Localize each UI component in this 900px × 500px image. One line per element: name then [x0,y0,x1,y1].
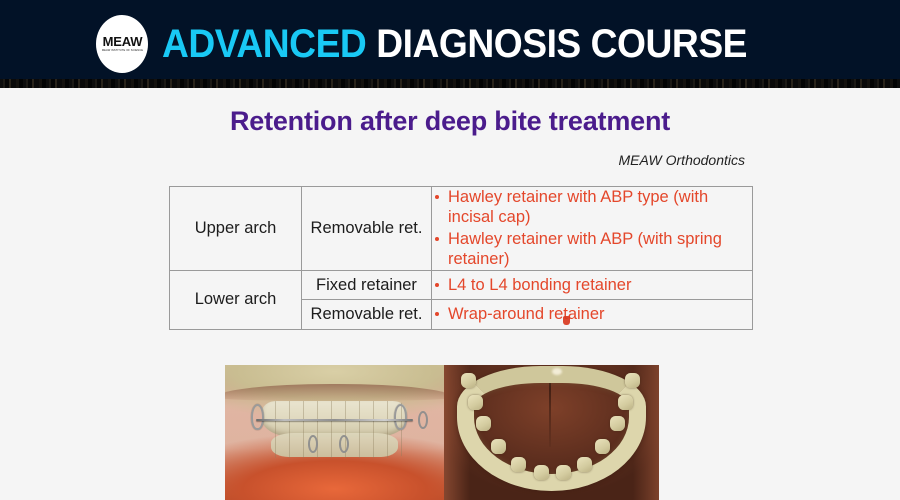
retainer-loop-right [394,404,407,430]
arch-cell-lower: Lower arch [170,270,302,329]
meaw-logo: MEAW MEAW INSTITUTE OF SCIENCE [96,15,148,73]
upper-lip-shadow [225,384,444,402]
tooth [625,373,640,388]
items-cell-lower-removable: Wrap-around retainer [432,300,753,329]
table-row: Upper arch Removable ret. Hawley retaine… [170,187,753,271]
tooth [556,465,571,480]
light-reflection [552,368,562,375]
retention-table: Upper arch Removable ret. Hawley retaine… [169,186,753,330]
logo-subtitle-text: MEAW INSTITUTE OF SCIENCE [102,50,143,53]
arch-cell-upper: Upper arch [170,187,302,271]
tooth [461,373,476,388]
item-list-upper: Hawley retainer with ABP type (with inci… [432,187,752,270]
table-row: Lower arch Fixed retainer L4 to L4 bondi… [170,270,753,299]
item-list-lower-fixed: L4 to L4 bonding retainer [432,275,752,295]
course-banner: MEAW MEAW INSTITUTE OF SCIENCE ADVANCED … [0,0,900,88]
banner-content: MEAW MEAW INSTITUTE OF SCIENCE ADVANCED … [96,15,791,73]
photo-lower-occlusal [444,365,659,500]
retainer-loop-left [251,404,264,430]
tooth [534,465,549,480]
list-item: Hawley retainer with ABP type (with inci… [432,187,752,228]
tooth [618,395,633,410]
items-cell-lower-fixed: L4 to L4 bonding retainer [432,270,753,299]
slide-subtitle: MEAW Orthodontics [0,152,900,168]
list-item: Wrap-around retainer [432,304,752,324]
retainer-clasp [418,411,428,429]
retainer-clasp [339,435,349,453]
banner-texture-strip [0,79,900,88]
tooth-separations [262,401,407,458]
banner-title: ADVANCED DIAGNOSIS COURSE [162,24,747,64]
retainer-labial-bow [256,419,414,421]
tooth [491,439,506,454]
banner-title-plain: DIAGNOSIS COURSE [367,22,748,66]
slide-title: Retention after deep bite treatment [0,106,900,137]
retainer-type-cell-lower-removable: Removable ret. [302,300,432,329]
tooth [476,416,491,431]
logo-text: MEAW [103,35,143,48]
tooth [577,457,592,472]
item-list-lower-removable: Wrap-around retainer [432,304,752,324]
retainer-type-cell-lower-fixed: Fixed retainer [302,270,432,299]
list-item: Hawley retainer with ABP (with spring re… [432,229,752,270]
tooth [468,395,483,410]
slide-body: Retention after deep bite treatment MEAW… [0,88,900,500]
photo-intraoral-frontal [225,365,444,500]
items-cell-upper: Hawley retainer with ABP type (with inci… [432,187,753,271]
clinical-photos [225,365,659,500]
tooth [610,416,625,431]
tooth [511,457,526,472]
tooth [595,439,610,454]
retainer-type-cell-upper: Removable ret. [302,187,432,271]
banner-title-accent: ADVANCED [162,22,366,66]
list-item: L4 to L4 bonding retainer [432,275,752,295]
